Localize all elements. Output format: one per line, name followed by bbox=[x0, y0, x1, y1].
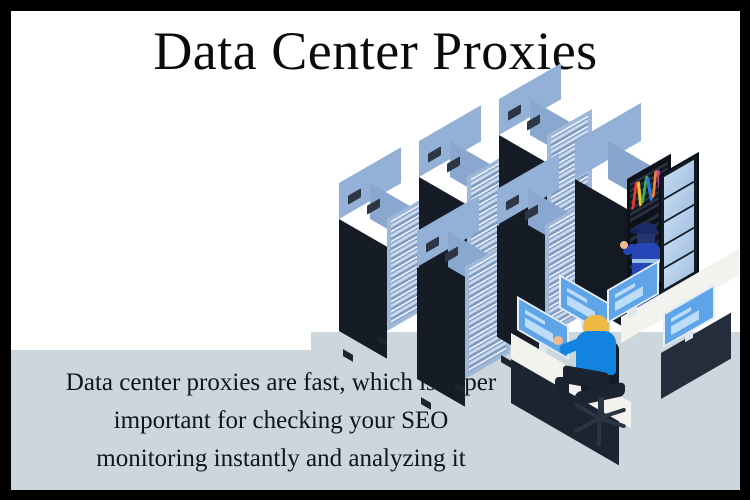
technician-cap bbox=[635, 223, 657, 234]
operator-figure bbox=[567, 315, 629, 407]
operator-workstation bbox=[511, 281, 740, 431]
operator-hand bbox=[553, 336, 563, 345]
caption-line: monitoring instantly and analyzing it bbox=[11, 440, 551, 478]
chair-base bbox=[575, 411, 627, 425]
operator-shin bbox=[555, 377, 569, 405]
page-title: Data Center Proxies bbox=[11, 19, 740, 83]
poster-canvas: Data Center Proxies bbox=[11, 11, 740, 490]
technician-hand bbox=[620, 241, 628, 249]
poster-frame: Data Center Proxies bbox=[0, 0, 750, 500]
caption-line: important for checking your SEO bbox=[11, 402, 551, 440]
